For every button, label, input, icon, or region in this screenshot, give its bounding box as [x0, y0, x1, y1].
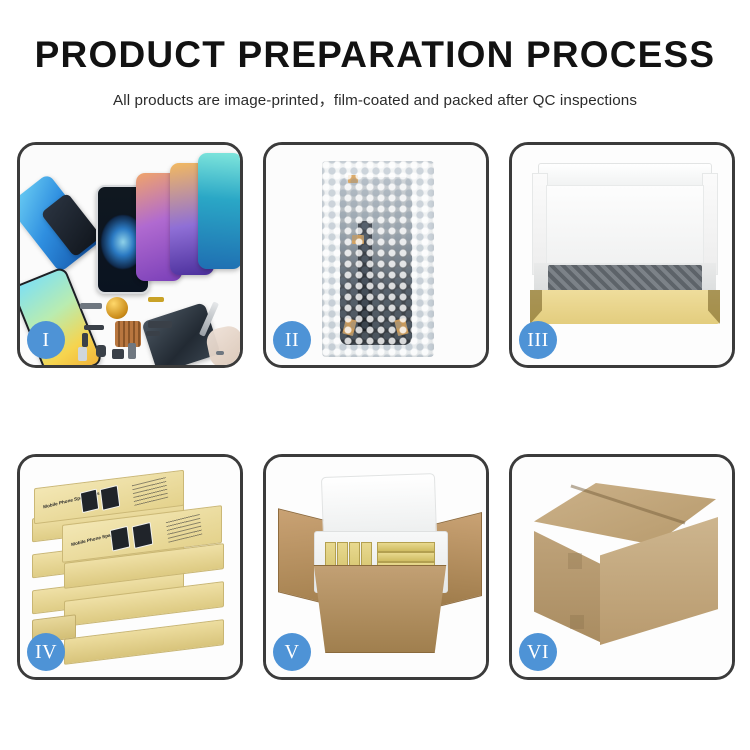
step-badge-5: V — [273, 633, 311, 671]
spare-part-screw — [216, 351, 224, 355]
process-step-card-5[interactable]: V — [263, 454, 489, 680]
process-step-card-3[interactable]: III — [509, 142, 735, 368]
page-header: PRODUCT PREPARATION PROCESS All products… — [0, 0, 750, 110]
spare-part-flex-3 — [148, 321, 172, 328]
spare-part-button — [128, 343, 136, 359]
carton-body — [308, 565, 452, 653]
box-label-spec-lines-2 — [166, 513, 202, 543]
process-step-card-1[interactable]: I — [17, 142, 243, 368]
phone-screen-teal — [198, 153, 240, 269]
step-badge-3: III — [519, 321, 557, 359]
step-badge-6: VI — [519, 633, 557, 671]
box-label-spec-lines-1 — [132, 476, 168, 506]
step-badge-4: IV — [27, 633, 65, 671]
carton-left-face — [534, 531, 602, 643]
spare-part-camera — [112, 349, 124, 359]
spare-part-flex-2 — [82, 333, 88, 347]
process-step-card-6[interactable]: VI — [509, 454, 735, 680]
yellow-box-6 — [377, 552, 435, 562]
spare-part-bar — [80, 303, 102, 309]
grey-foam-insert — [548, 265, 702, 293]
page-title: PRODUCT PREPARATION PROCESS — [0, 36, 750, 75]
spare-part-flex-4 — [146, 331, 160, 336]
spare-part-gold-strip — [148, 297, 164, 302]
bubble-texture-shade — [322, 161, 434, 357]
kraft-box-front-panel — [530, 290, 720, 324]
spare-part-sim-tray — [78, 347, 87, 361]
stacked-box-1 — [64, 619, 224, 665]
carton-label-patch-bottom — [570, 615, 584, 629]
box-label-phone-img-1 — [80, 489, 99, 514]
process-step-grid: I II — [17, 142, 735, 680]
white-foam-sheet — [546, 185, 704, 267]
box-label-phone-img-2 — [100, 485, 121, 511]
yellow-box-5 — [377, 542, 435, 552]
box-label-phone-img-4 — [132, 522, 154, 549]
carton-label-patch-top — [568, 553, 582, 569]
spare-part-flex-1 — [84, 325, 104, 330]
bubble-wrap-bag — [322, 161, 434, 357]
box-label-phone-img-3 — [110, 526, 131, 552]
process-step-card-4[interactable]: Mobile Phone Spare Parts Mobile Phone Sp… — [17, 454, 243, 680]
step-badge-2: II — [273, 321, 311, 359]
process-step-card-2[interactable]: II — [263, 142, 489, 368]
gold-chip-icon — [106, 297, 128, 319]
box-flap-right — [702, 173, 718, 275]
spare-part-speaker — [96, 345, 106, 357]
step-badge-1: I — [27, 321, 65, 359]
page-subtitle: All products are image-printed，film-coat… — [0, 88, 750, 110]
